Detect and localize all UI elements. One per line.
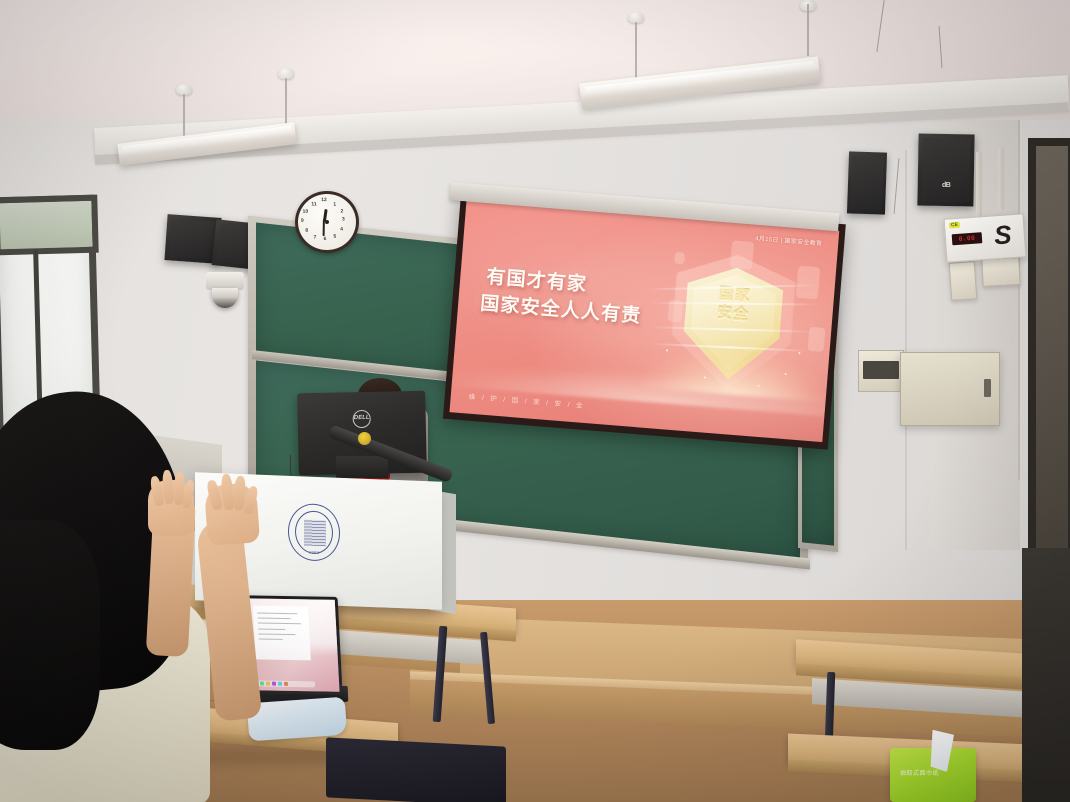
meter-display: 0.00 bbox=[952, 232, 983, 245]
cabinet-latch[interactable] bbox=[984, 379, 991, 397]
sparkle bbox=[666, 349, 668, 351]
clock-numeral: 2 bbox=[341, 208, 344, 214]
monitor-stand bbox=[336, 456, 388, 478]
slide-date-label: 4月15日 | 国家安全教育 bbox=[755, 233, 823, 247]
dock-icon[interactable] bbox=[272, 682, 276, 686]
clock-numeral: 7 bbox=[313, 234, 316, 240]
shield-emblem-text: 国家 安全 bbox=[697, 284, 772, 327]
seal-crest bbox=[304, 519, 326, 546]
meter-logo-swoosh: S bbox=[985, 219, 1021, 251]
clock-numeral: 12 bbox=[321, 197, 327, 203]
student-hair-strands bbox=[0, 520, 100, 750]
classroom-photo: 12 3 6 9 1 2 4 5 7 8 10 11 bbox=[0, 0, 1070, 802]
clock-numeral: 3 bbox=[342, 216, 345, 222]
wall-conduit bbox=[998, 148, 1004, 210]
text-line bbox=[258, 634, 295, 636]
speaker-grille bbox=[169, 218, 218, 259]
sparkle bbox=[798, 352, 800, 354]
breaker-box[interactable] bbox=[858, 350, 904, 392]
projection-screen[interactable]: 国家 安全 4月15日 | 国家安全教育 有国才有家 国家安全人人有责 bbox=[443, 193, 846, 449]
light-rod bbox=[807, 4, 809, 56]
shield-text-line2: 安全 bbox=[717, 304, 750, 324]
tissue-label: 抽取式面巾纸 bbox=[900, 768, 939, 777]
chair-back bbox=[326, 737, 506, 802]
dock-icon[interactable] bbox=[260, 681, 264, 685]
wall-seam bbox=[1018, 120, 1020, 480]
slide-headline: 有国才有家 国家安全人人有责 bbox=[483, 265, 644, 331]
clock-numeral: 10 bbox=[303, 209, 309, 215]
ce-badge: CE bbox=[949, 222, 960, 229]
clock-numeral: 4 bbox=[340, 226, 343, 232]
clock-numeral: 1 bbox=[333, 202, 336, 208]
text-line bbox=[257, 612, 297, 614]
light-rod bbox=[285, 78, 287, 128]
slide-canvas: 国家 安全 4月15日 | 国家安全教育 有国才有家 国家安全人人有责 bbox=[449, 201, 839, 442]
electrical-cabinet[interactable] bbox=[900, 352, 1000, 426]
speaker-grille bbox=[921, 138, 970, 203]
speaker-grille bbox=[850, 155, 884, 210]
dock-icon[interactable] bbox=[266, 681, 270, 685]
sparkle bbox=[785, 373, 787, 375]
breaker-switch-row[interactable] bbox=[863, 361, 899, 379]
wall-outlet-plate[interactable] bbox=[949, 261, 978, 301]
wall-conduit bbox=[976, 152, 982, 218]
university-seal-icon: 1902 bbox=[288, 503, 340, 562]
meter-digits: 0.00 bbox=[952, 232, 983, 245]
face-mask bbox=[247, 697, 347, 742]
monitor-arm-joint[interactable] bbox=[358, 432, 371, 445]
clock-numeral: 6 bbox=[323, 236, 326, 242]
wall-seam bbox=[905, 150, 907, 550]
clock-numeral: 11 bbox=[311, 201, 317, 207]
clock-numeral: 9 bbox=[301, 218, 304, 224]
door-right bbox=[1022, 548, 1070, 802]
dell-logo-icon: DELL bbox=[353, 410, 371, 428]
light-rod bbox=[635, 22, 637, 80]
wall-switch-plate[interactable] bbox=[981, 257, 1020, 287]
speaker-brand-label: dB bbox=[942, 182, 950, 189]
text-line bbox=[258, 623, 301, 625]
window-transom bbox=[0, 195, 99, 256]
digital-meter-device[interactable]: CE 0.00 S bbox=[944, 213, 1027, 262]
seal-year: 1902 bbox=[289, 549, 339, 556]
dock-icon[interactable] bbox=[278, 682, 282, 686]
laptop-document-window[interactable] bbox=[253, 606, 311, 660]
text-line bbox=[258, 618, 291, 620]
window-right bbox=[1028, 138, 1070, 558]
clock-numeral: 5 bbox=[333, 234, 336, 240]
clock-center-pin bbox=[325, 220, 329, 224]
text-line bbox=[258, 628, 286, 629]
text-line bbox=[259, 639, 283, 640]
dock-icon[interactable] bbox=[284, 682, 288, 686]
clock-numeral: 8 bbox=[305, 228, 308, 234]
